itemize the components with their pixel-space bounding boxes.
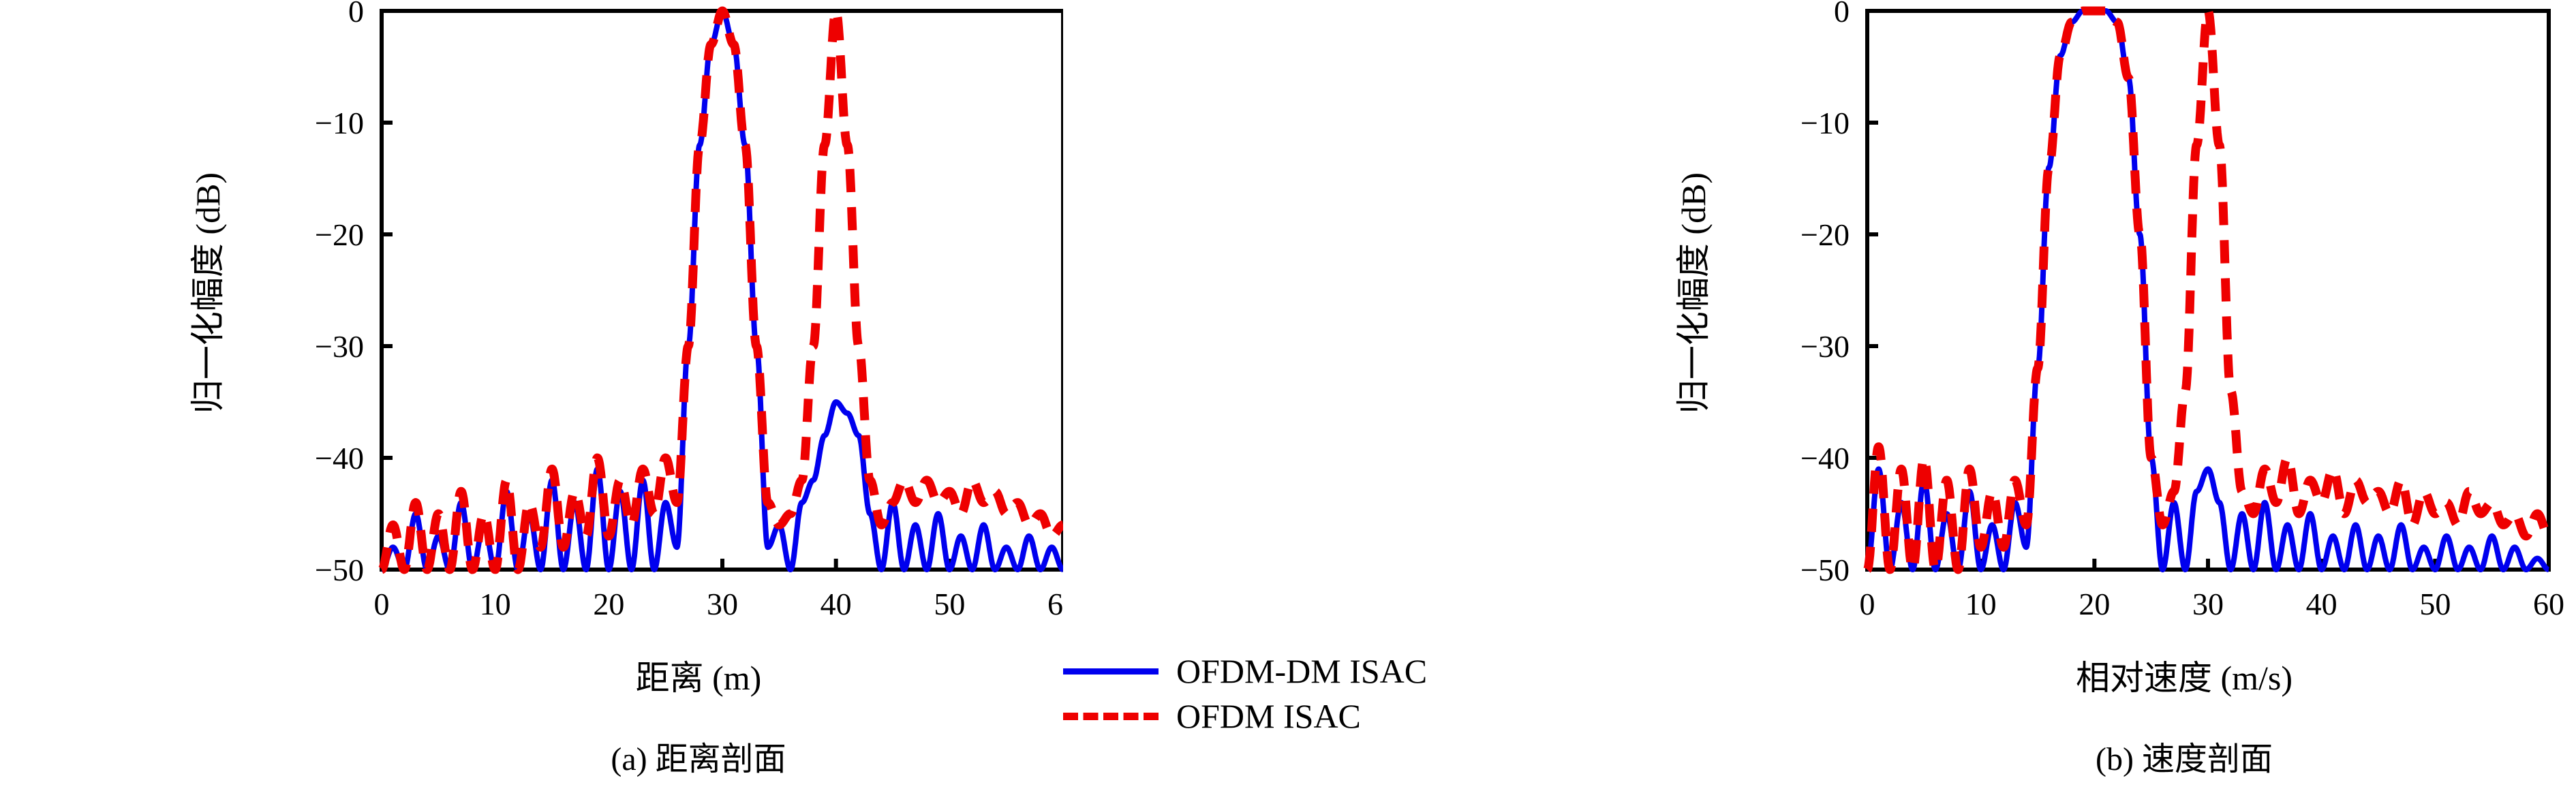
y-tick-label: −50 [1800, 553, 1850, 587]
series-ofdm-isac [1867, 11, 2549, 570]
legend-line-sample-dashed [1063, 713, 1159, 720]
x-tick-label: 60 [1047, 587, 1063, 621]
x-tick-label: 50 [2419, 587, 2451, 621]
x-tick-label: 0 [374, 587, 390, 621]
velocity-profile-chart: 归一化幅度 (dB) 01020304050600−10−20−30−40−50… [1486, 0, 2576, 806]
y-tick-label: −30 [1800, 329, 1850, 364]
panel-b-curves [1867, 11, 2549, 570]
y-tick-label: 0 [1834, 0, 1850, 29]
x-tick-label: 40 [2306, 587, 2337, 621]
panel-b-x-axis-title: 相对速度 (m/s) [2076, 659, 2293, 697]
y-tick-label: −10 [315, 106, 364, 140]
legend-entry-ofdm-isac: OFDM ISAC [1063, 694, 1486, 739]
panel-b-y-axis-title: 归一化幅度 (dB) [1674, 172, 1713, 414]
x-tick-label: 20 [593, 587, 624, 621]
legend-label-ofdm-isac: OFDM ISAC [1176, 699, 1361, 733]
x-tick-label: 10 [1965, 587, 1997, 621]
panel-b-tick-labels: 01020304050600−10−20−30−40−50 [1800, 0, 2564, 621]
panel-a-subcaption: (a) 距离剖面 [611, 741, 786, 777]
y-tick-label: −40 [315, 441, 364, 476]
x-tick-label: 30 [707, 587, 738, 621]
panel-range-profile: 归一化幅度 (dB) 01020304050600−10−20−30−40−50… [0, 0, 1063, 806]
x-tick-label: 50 [934, 587, 965, 621]
y-tick-label: 0 [348, 0, 364, 29]
x-tick-label: 40 [821, 587, 852, 621]
x-tick-label: 60 [2533, 587, 2564, 621]
panel-a-curves [382, 11, 1063, 570]
y-tick-label: −10 [1800, 106, 1850, 140]
y-tick-label: −40 [1800, 441, 1850, 476]
panel-a-x-axis-title: 距离 (m) [636, 659, 762, 697]
legend-entry-ofdm-dm-isac: OFDM-DM ISAC [1063, 649, 1486, 694]
panel-a-plot-frame [382, 11, 1063, 570]
x-tick-label: 10 [480, 587, 511, 621]
panel-b-ticks [1867, 123, 2549, 570]
panel-b-subcaption: (b) 速度剖面 [2096, 741, 2273, 777]
legend-label-ofdm-dm-isac: OFDM-DM ISAC [1176, 654, 1427, 688]
range-profile-chart: 归一化幅度 (dB) 01020304050600−10−20−30−40−50… [0, 0, 1063, 806]
panel-a-y-axis-title: 归一化幅度 (dB) [189, 172, 227, 414]
series-ofdm-dm-isac [382, 11, 1063, 570]
series-ofdm-isac [382, 11, 1063, 570]
x-tick-label: 30 [2192, 587, 2224, 621]
x-tick-label: 20 [2079, 587, 2110, 621]
panel-velocity-profile: 归一化幅度 (dB) 01020304050600−10−20−30−40−50… [1486, 0, 2576, 806]
x-tick-label: 0 [1860, 587, 1875, 621]
y-tick-label: −50 [315, 553, 364, 587]
y-tick-label: −20 [315, 217, 364, 252]
y-tick-label: −20 [1800, 217, 1850, 252]
y-tick-label: −30 [315, 329, 364, 364]
figure-root: 归一化幅度 (dB) 01020304050600−10−20−30−40−50… [0, 0, 2576, 806]
chart-legend: OFDM-DM ISAC OFDM ISAC [1063, 649, 1486, 751]
legend-line-sample-solid [1063, 668, 1159, 675]
